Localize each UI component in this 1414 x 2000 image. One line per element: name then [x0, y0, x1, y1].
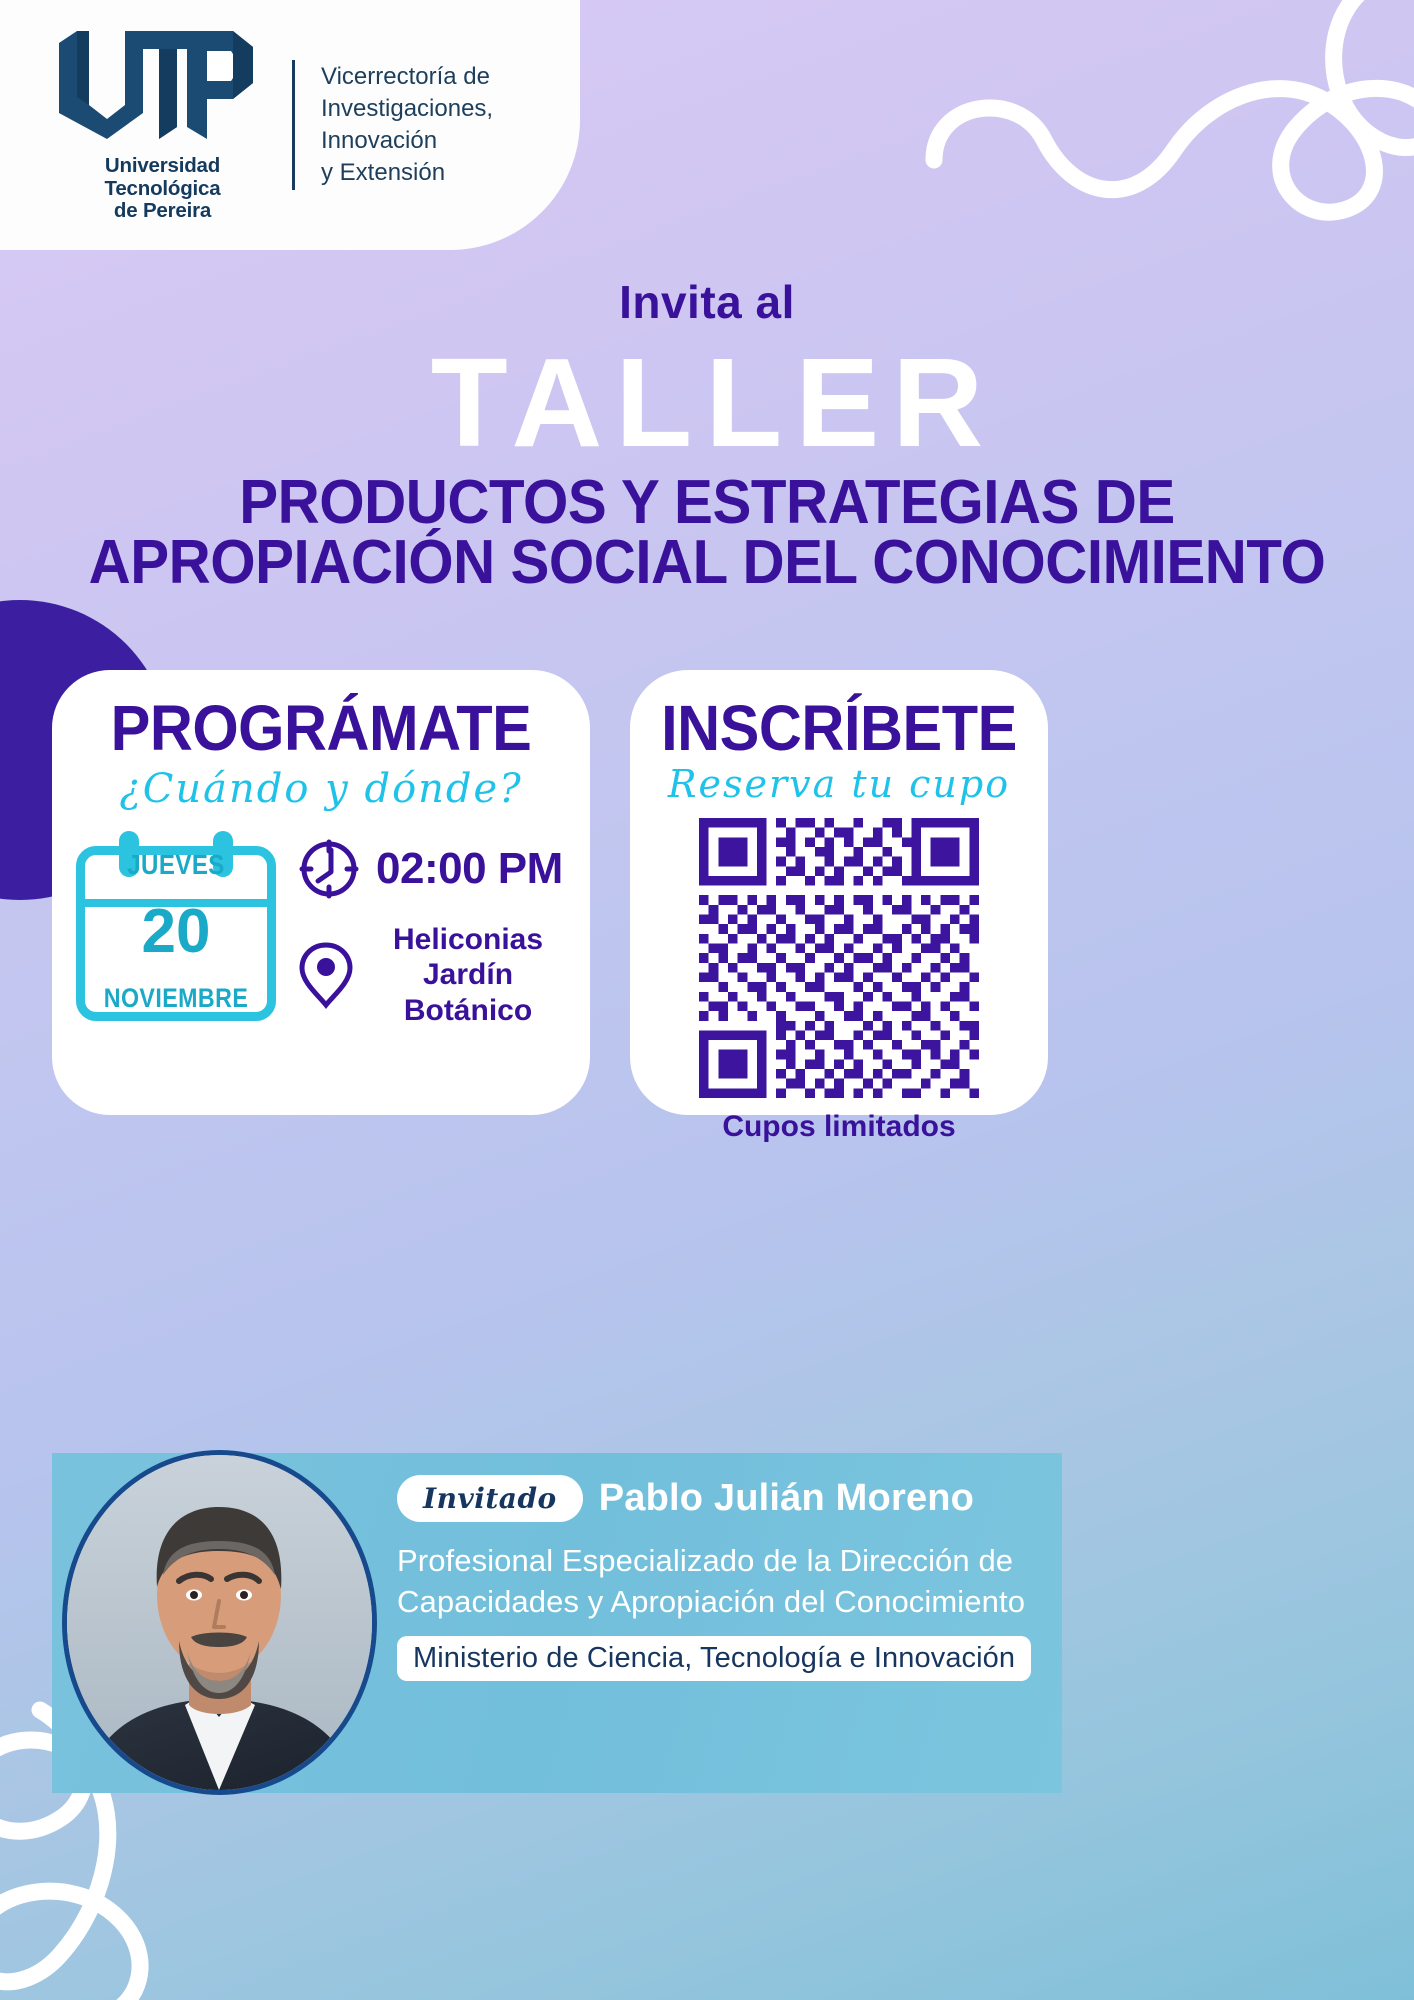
- office-line1: Vicerrectoría de: [321, 61, 493, 93]
- location-pin-icon: [298, 941, 354, 1009]
- speaker-band: Invitado Pablo Julián Moreno Profesional…: [52, 1453, 1062, 1793]
- calendar-day-number: 20: [85, 901, 267, 963]
- squiggle-decoration-top-icon: [924, 0, 1414, 300]
- time-place-column: 02:00 PM Heliconias Jardín Botánico: [298, 838, 566, 1028]
- speaker-photo: [62, 1450, 377, 1795]
- inscribete-script-subtitle: Reserva tu cupo: [630, 762, 1048, 806]
- speaker-role: Profesional Especializado de la Direcció…: [397, 1540, 1048, 1622]
- university-name: Universidad Tecnológica de Pereira: [55, 155, 270, 224]
- logo-divider: [292, 60, 295, 190]
- cards-row: PROGRÁMATE ¿Cuándo y dónde? JUEVES 20 NO…: [52, 670, 1362, 1115]
- university-name-line2: de Pereira: [55, 200, 270, 223]
- speaker-portrait-illustration: [67, 1455, 372, 1790]
- calendar-month: NOVIEMBRE: [98, 983, 255, 1014]
- inscribete-card: INSCRÍBETE Reserva tu cupo: [630, 670, 1048, 1115]
- time-row: 02:00 PM: [298, 838, 566, 900]
- office-line4: y Extensión: [321, 157, 493, 189]
- event-place: Heliconias Jardín Botánico: [370, 922, 566, 1028]
- programate-card: PROGRÁMATE ¿Cuándo y dónde? JUEVES 20 NO…: [52, 670, 590, 1115]
- date-time-place-row: JUEVES 20 NOVIEMBRE 02: [52, 838, 590, 1028]
- inscribete-title: INSCRÍBETE: [645, 696, 1034, 760]
- speaker-name-row: Invitado Pablo Julián Moreno: [397, 1475, 1048, 1522]
- logo-card: Universidad Tecnológica de Pereira Vicer…: [0, 0, 580, 250]
- invita-label: Invita al: [0, 275, 1414, 329]
- event-subtitle-line1: PRODUCTOS Y ESTRATEGIAS DE: [42, 473, 1371, 534]
- calendar-icon: JUEVES 20 NOVIEMBRE: [76, 846, 276, 1021]
- qr-code[interactable]: [699, 818, 979, 1098]
- utp-logo: Universidad Tecnológica de Pereira: [55, 27, 270, 224]
- office-line3: Innovación: [321, 125, 493, 157]
- event-place-line2: Jardín Botánico: [370, 957, 566, 1028]
- clock-icon: [298, 838, 360, 900]
- programate-title: PROGRÁMATE: [71, 696, 571, 760]
- university-name-line1: Universidad Tecnológica: [55, 155, 270, 201]
- headline-block: Invita al TALLER PRODUCTOS Y ESTRATEGIAS…: [0, 275, 1414, 594]
- calendar-day-of-week: JUEVES: [98, 849, 255, 881]
- ministry-badge: Ministerio de Ciencia, Tecnología e Inno…: [397, 1636, 1031, 1681]
- utp-monogram-icon: [55, 27, 255, 145]
- event-place-line1: Heliconias: [370, 922, 566, 957]
- office-name: Vicerrectoría de Investigaciones, Innova…: [321, 61, 493, 189]
- qr-wrapper[interactable]: [630, 818, 1048, 1098]
- speaker-info: Invitado Pablo Julián Moreno Profesional…: [397, 1475, 1048, 1681]
- office-line2: Investigaciones,: [321, 93, 493, 125]
- invitado-badge: Invitado: [397, 1475, 583, 1522]
- speaker-role-line1: Profesional Especializado de la Direcció…: [397, 1540, 1048, 1581]
- event-time: 02:00 PM: [376, 844, 563, 894]
- event-type-title: TALLER: [0, 343, 1414, 463]
- programate-script-subtitle: ¿Cuándo y dónde?: [52, 766, 590, 812]
- speaker-role-line2: Capacidades y Apropiación del Conocimien…: [397, 1581, 1048, 1622]
- place-row: Heliconias Jardín Botánico: [298, 922, 566, 1028]
- limited-slots-note: Cupos limitados: [630, 1110, 1048, 1144]
- event-subtitle-line2: APROPIACIÓN SOCIAL DEL CONOCIMIENTO: [42, 533, 1371, 594]
- speaker-name: Pablo Julián Moreno: [599, 1477, 974, 1520]
- poster-root: Universidad Tecnológica de Pereira Vicer…: [0, 0, 1414, 2000]
